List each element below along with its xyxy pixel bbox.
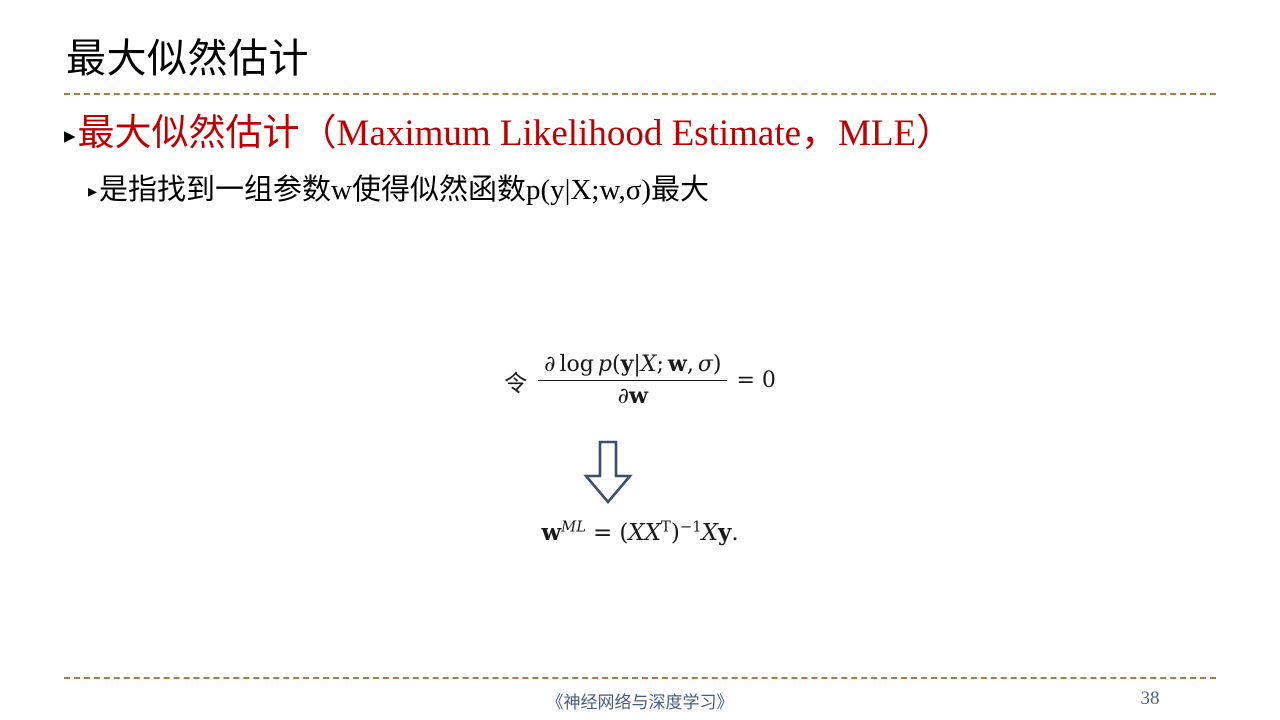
w-symbol: w [664,351,687,377]
X-symbol: X [628,520,644,546]
footer-book-title: 《神经网络与深度学习》 [0,688,1280,713]
comma: , [687,352,694,377]
partial-symbol: ∂ [618,384,629,409]
w-symbol: w [541,519,561,546]
triangle-bullet-icon: ▸ [64,124,76,147]
X-symbol: X [702,520,718,546]
y-symbol: y [621,351,634,377]
close-paren: ) [713,352,722,377]
X-symbol: X [645,520,661,546]
close-paren: ) [671,520,680,546]
equals-symbol: = [586,520,619,546]
page-title: 最大似然估计 [66,34,309,84]
equation-1-lead-label: 令 [504,364,529,398]
p-symbol: p [594,352,612,377]
equation-2: wML=(XXT)−1Xy. [541,520,738,546]
period: . [731,520,738,546]
partial-symbol: ∂ [544,352,555,377]
equation-1: 令 ∂logp(y|X;w,σ) ∂w = 0 [504,352,776,410]
divider-bottom [64,677,1216,679]
sigma-symbol: σ [694,352,713,377]
inverse-superscript: −1 [680,518,702,535]
open-paren: ( [619,520,628,546]
slide: 最大似然估计 ▸ 最大似然估计（Maximum Likelihood Estim… [0,0,1280,720]
bullet-level1-label: 最大似然估计（Maximum Likelihood Estimate，MLE） [78,111,954,157]
equation-1-denominator: ∂w [612,381,654,410]
log-symbol: log [556,352,594,377]
equation-1-fraction: ∂logp(y|X;w,σ) ∂w [538,352,727,410]
triangle-bullet-icon: ▸ [88,182,97,200]
w-symbol: w [629,383,648,409]
equation-1-rhs: = 0 [736,368,775,393]
equation-2-block: wML=(XXT)−1Xy. [0,519,1280,546]
semicolon: ; [656,352,663,377]
page-number: 38 [1120,688,1180,710]
bullet-level1: ▸ 最大似然估计（Maximum Likelihood Estimate，MLE… [64,111,953,157]
mid-bar: | [633,352,640,377]
down-arrow-icon [583,440,633,505]
equation-1-numerator: ∂logp(y|X;w,σ) [538,352,727,380]
equation-1-block: 令 ∂logp(y|X;w,σ) ∂w = 0 [0,352,1280,410]
X-symbol: X [641,352,657,377]
y-symbol: y [718,519,731,546]
ml-superscript: ML [561,518,586,535]
bullet-level2: ▸ 是指找到一组参数w使得似然函数p(y|X;w,σ)最大 [88,172,709,208]
open-paren: ( [612,352,621,377]
transpose-superscript: T [661,518,671,535]
divider-top [64,93,1216,95]
bullet-level2-label: 是指找到一组参数w使得似然函数p(y|X;w,σ)最大 [99,172,709,208]
